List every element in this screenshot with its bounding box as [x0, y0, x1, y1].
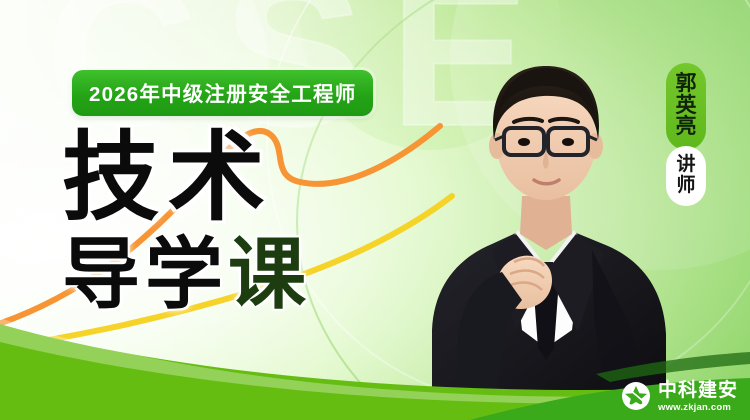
page-title-primary: 技术 [62, 130, 311, 225]
course-banner: CSE 2026年中级注册安全工程师 技术 导学课 [0, 0, 750, 420]
instructor-name-char-1: 郭 [666, 73, 706, 95]
instructor-role-pill: 讲 师 [666, 146, 706, 206]
instructor-name-pill: 郭 英 亮 [666, 63, 706, 150]
title-group: 技术 导学课 [62, 130, 311, 313]
course-badge: 2026年中级注册安全工程师 [72, 70, 373, 116]
instructor-name-char-3: 亮 [666, 116, 706, 138]
brand-logo: 中科建安 www.zkjan.com [621, 381, 738, 413]
brand-name: 中科建安 [658, 381, 738, 400]
brand-url: www.zkjan.com [658, 403, 738, 413]
star-arrow-circle-icon [621, 381, 651, 411]
instructor-name-char-2: 英 [666, 95, 706, 117]
instructor-role-char-2: 师 [666, 176, 706, 197]
brand-logo-text: 中科建安 www.zkjan.com [658, 381, 738, 413]
instructor-role-char-1: 讲 [666, 155, 706, 176]
